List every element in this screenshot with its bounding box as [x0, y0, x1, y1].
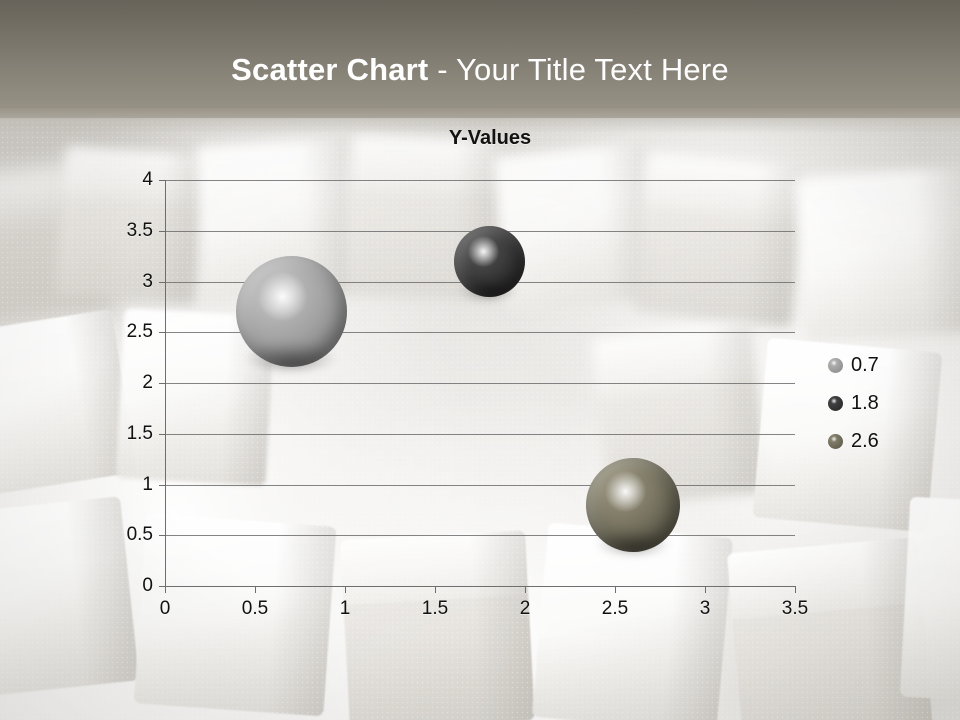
y-axis-line	[165, 180, 166, 587]
x-axis-tick	[435, 587, 436, 593]
legend-swatch-sphere-icon	[828, 396, 843, 411]
x-axis-tick-label: 2	[495, 598, 555, 620]
x-axis-tick-label: 1	[315, 598, 375, 620]
scatter-bubble[interactable]	[236, 256, 347, 367]
x-axis-tick-label: 0.5	[225, 598, 285, 620]
scatter-bubble[interactable]	[586, 458, 680, 552]
legend-item[interactable]: 1.8	[828, 384, 948, 422]
legend-swatch-highlight	[831, 398, 837, 404]
gridline	[165, 535, 795, 536]
y-axis-tick-label: 2	[107, 372, 153, 394]
x-axis-tick	[255, 587, 256, 593]
legend-item-label: 2.6	[851, 430, 879, 453]
y-axis-tick	[159, 231, 165, 232]
bubble-shadow	[594, 529, 673, 553]
y-axis-tick-label: 1	[107, 474, 153, 496]
x-axis-tick-label: 3	[675, 598, 735, 620]
gridline	[165, 485, 795, 486]
legend-item-label: 1.8	[851, 392, 879, 415]
bubble-shadow	[459, 280, 519, 298]
y-axis-tick-label: 0	[107, 575, 153, 597]
x-axis-tick-label: 1.5	[405, 598, 465, 620]
y-axis-tick	[159, 282, 165, 283]
y-axis-tick-label: 4	[107, 169, 153, 191]
scatter-bubble[interactable]	[454, 226, 525, 297]
y-axis-tick-label: 2.5	[107, 321, 153, 343]
x-axis-tick-label: 0	[135, 598, 195, 620]
y-axis-tick-label: 0.5	[107, 524, 153, 546]
chart-legend: 0.71.82.6	[828, 346, 948, 460]
legend-swatch-highlight	[831, 436, 837, 442]
legend-item[interactable]: 2.6	[828, 422, 948, 460]
bubble-highlight	[468, 236, 499, 267]
x-axis-tick	[525, 587, 526, 593]
legend-swatch-sphere-icon	[828, 434, 843, 449]
scatter-chart: Y-Values 00.511.522.533.54 00.511.522.53…	[0, 0, 960, 720]
y-axis-tick-label: 3.5	[107, 220, 153, 242]
legend-item-label: 0.7	[851, 354, 879, 377]
legend-swatch-highlight	[831, 360, 837, 366]
y-axis-tick	[159, 535, 165, 536]
bubble-shadow	[244, 341, 337, 370]
y-axis-tick	[159, 180, 165, 181]
x-axis-tick	[705, 587, 706, 593]
y-axis-tick	[159, 485, 165, 486]
x-axis-tick-label: 3.5	[765, 598, 825, 620]
legend-swatch-sphere-icon	[828, 358, 843, 373]
y-axis-tick-label: 1.5	[107, 423, 153, 445]
chart-title: Y-Values	[330, 127, 650, 150]
legend-item[interactable]: 0.7	[828, 346, 948, 384]
x-axis-tick	[345, 587, 346, 593]
x-axis-tick	[615, 587, 616, 593]
bubble-highlight	[605, 471, 646, 512]
y-axis-tick	[159, 434, 165, 435]
x-axis-line	[165, 586, 796, 587]
gridline	[165, 383, 795, 384]
y-axis-tick	[159, 383, 165, 384]
bubble-highlight	[258, 272, 307, 321]
y-axis-tick-label: 3	[107, 271, 153, 293]
gridline	[165, 180, 795, 181]
gridline	[165, 434, 795, 435]
y-axis-tick	[159, 332, 165, 333]
x-axis-tick	[795, 587, 796, 593]
slide-canvas: Scatter Chart - Your Title Text Here Y-V…	[0, 0, 960, 720]
x-axis-tick-label: 2.5	[585, 598, 645, 620]
x-axis-tick	[165, 587, 166, 593]
